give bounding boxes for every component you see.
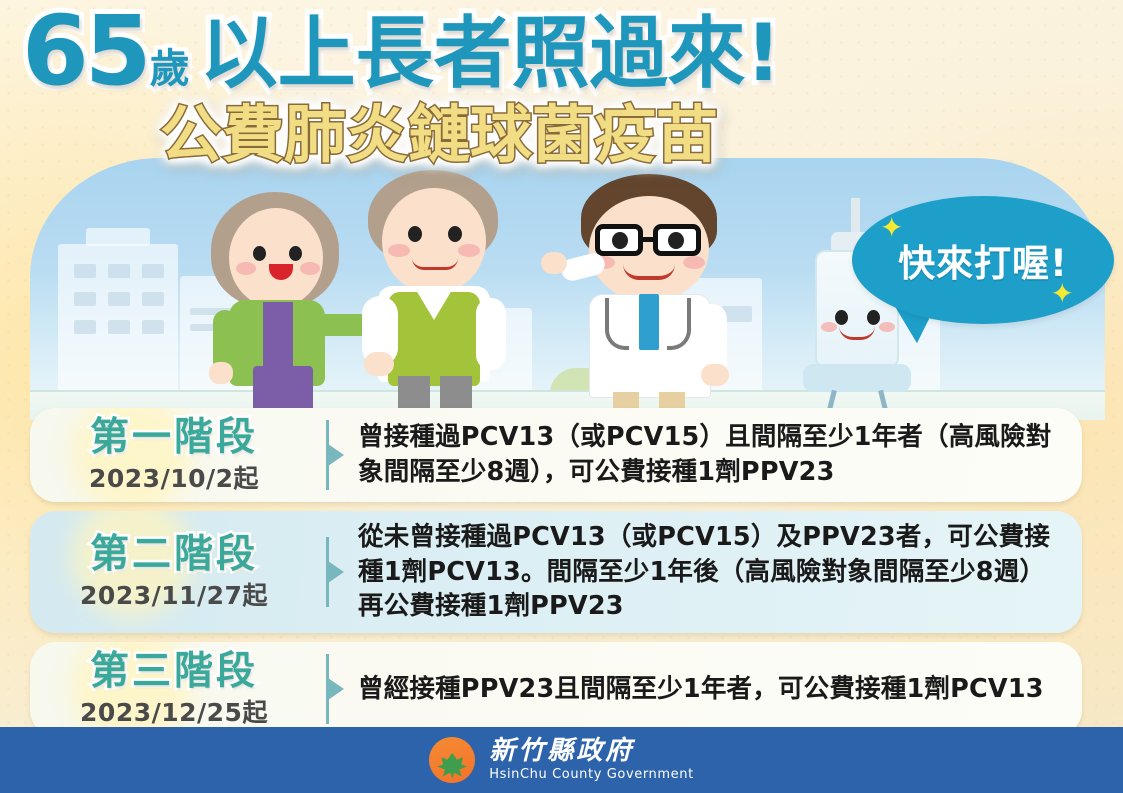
doctor-character (555, 168, 795, 420)
eye-icon (448, 226, 462, 242)
stage-title: 第一階段 (40, 417, 308, 458)
stage-label-group: 第二階段 2023/11/27起 (30, 526, 312, 618)
arm-icon (476, 298, 506, 370)
eye-icon (612, 232, 628, 249)
hand-icon (541, 252, 567, 274)
eye-icon (253, 246, 266, 261)
stage-label-group: 第一階段 2023/10/2起 (30, 409, 312, 501)
syringe-flange-icon (803, 364, 911, 392)
sparkle-icon: ✦ (1051, 280, 1074, 308)
stage-date: 2023/11/27起 (40, 576, 308, 612)
footer-english-name: HsinChu County Government (489, 767, 694, 783)
grandpa-character (350, 170, 565, 420)
window-icon (142, 320, 164, 334)
headline-subtitle: 公費肺炎鏈球菌疫苗 (160, 104, 718, 166)
needle-icon (851, 198, 860, 236)
eye-icon (668, 232, 684, 249)
footer-bar: 新竹縣政府 HsinChu County Government (0, 727, 1123, 793)
stage-body-text: 曾經接種PPV23且間隔至少1年者，可公費接種1劑PCV13 (342, 663, 1082, 716)
headline-main-text: 以上長者照過來! (200, 15, 782, 93)
stage-title: 第二階段 (40, 534, 308, 575)
window-icon (142, 264, 164, 278)
cheek-icon (458, 244, 480, 257)
window-icon (108, 264, 130, 278)
window-icon (74, 292, 96, 306)
window-icon (108, 292, 130, 306)
eye-icon (408, 226, 422, 242)
cheek-icon (683, 256, 705, 269)
sparkle-icon: ✦ (880, 214, 903, 242)
stage-label-group: 第三階段 2023/12/25起 (30, 643, 312, 735)
hand-icon (364, 352, 394, 376)
cheek-icon (821, 322, 837, 332)
stage-divider-arrow-icon (312, 654, 342, 724)
footer-text-group: 新竹縣政府 HsinChu County Government (489, 737, 694, 782)
stage-card: 第二階段 2023/11/27起 從未曾接種過PCV13（或PCV15）及PPV… (30, 511, 1082, 633)
speech-bubble-text: 快來打喔! (898, 233, 1068, 287)
footer-chinese-name: 新竹縣政府 (489, 737, 694, 766)
stage-date: 2023/10/2起 (40, 459, 308, 495)
stage-divider-arrow-icon (312, 420, 342, 490)
stage-card: 第三階段 2023/12/25起 曾經接種PPV23且間隔至少1年者，可公費接種… (30, 642, 1082, 736)
stage-card-list: 第一階段 2023/10/2起 曾接種過PCV13（或PCV15）且間隔至少1年… (30, 408, 1082, 745)
window-icon (142, 292, 164, 306)
face-icon (229, 208, 323, 308)
stage-date: 2023/12/25起 (40, 693, 308, 729)
necktie-icon (639, 294, 659, 350)
eyeglasses-bridge-icon (641, 237, 655, 242)
poster-root: 24 (0, 0, 1123, 793)
eye-icon (867, 310, 880, 325)
stage-body-text: 從未曾接種過PCV13（或PCV15）及PPV23者，可公費接種1劑PCV13。… (342, 511, 1082, 633)
headline-block: 65 歲 以上長者照過來! 公費肺炎鏈球菌疫苗 (0, 0, 1123, 180)
cheek-icon (388, 244, 410, 257)
building-top-icon (86, 228, 150, 246)
speech-bubble: ✦ ✦ 快來打喔! (852, 196, 1114, 324)
stage-title: 第三階段 (40, 651, 308, 692)
cheek-icon (300, 262, 320, 275)
headline-age-unit: 歲 (150, 49, 190, 89)
hand-icon (209, 362, 233, 384)
window-icon (74, 264, 96, 278)
stage-card: 第一階段 2023/10/2起 曾接種過PCV13（或PCV15）且間隔至少1年… (30, 408, 1082, 502)
hsinchu-gov-logo-icon (429, 737, 475, 783)
stage-body-text: 曾接種過PCV13（或PCV15）且間隔至少1年者（高風險對象間隔至少8週），可… (342, 411, 1082, 498)
headline-main-row: 65 歲 以上長者照過來! (22, 6, 781, 97)
eye-icon (835, 310, 848, 325)
mouth-icon (623, 264, 675, 280)
mouth-icon (412, 258, 458, 270)
stage-divider-arrow-icon (312, 537, 342, 607)
window-icon (108, 320, 130, 334)
cheek-icon (236, 262, 256, 275)
hand-icon (701, 364, 729, 386)
eye-icon (289, 246, 302, 261)
face-icon (382, 188, 486, 294)
window-icon (74, 320, 96, 334)
headline-age-number: 65 (22, 6, 148, 97)
stethoscope-icon (605, 298, 629, 350)
